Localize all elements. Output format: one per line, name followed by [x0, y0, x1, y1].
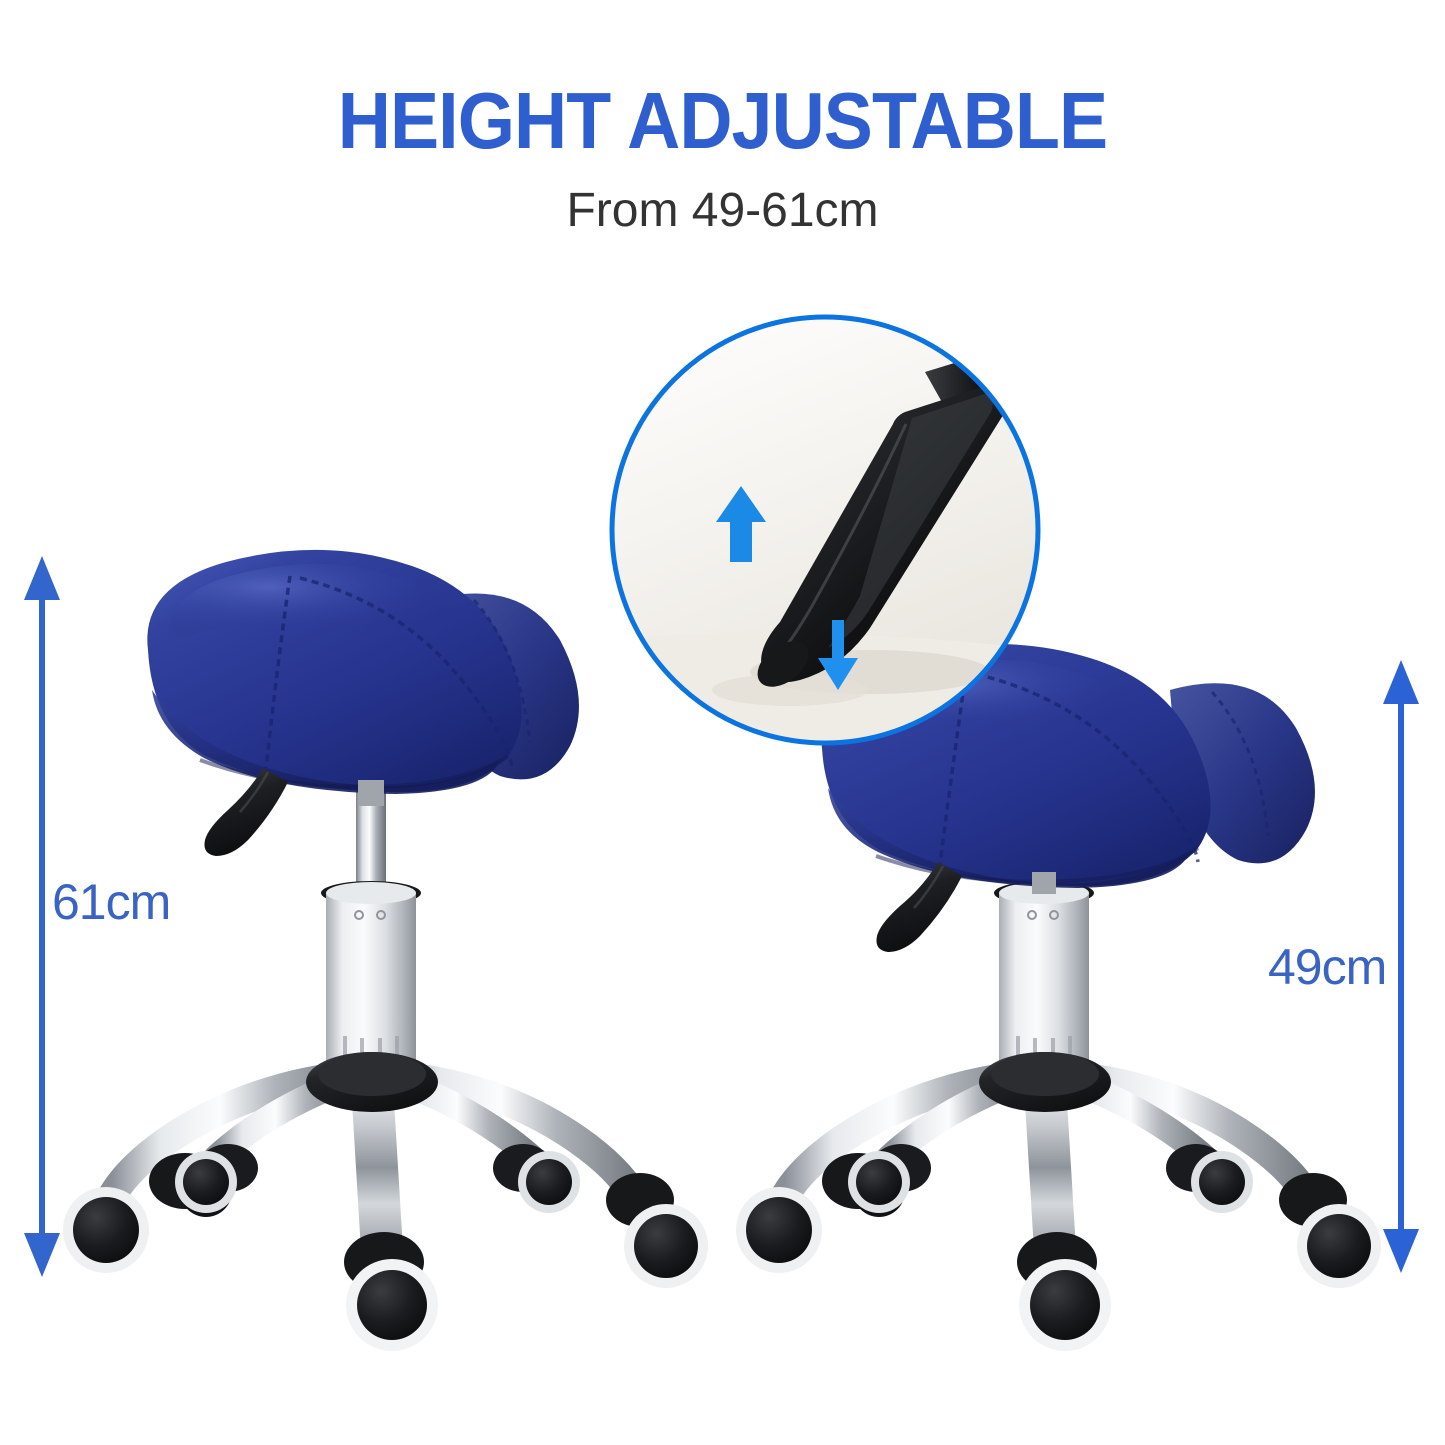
infographic-canvas: HEIGHT ADJUSTABLE From 49-61cm — [0, 0, 1445, 1445]
dimension-label-right: 49cm — [1268, 940, 1386, 994]
inset-content — [605, 310, 1045, 750]
lever-closeup-inset[interactable] — [0, 0, 1445, 1445]
dimension-label-left: 61cm — [52, 875, 170, 929]
